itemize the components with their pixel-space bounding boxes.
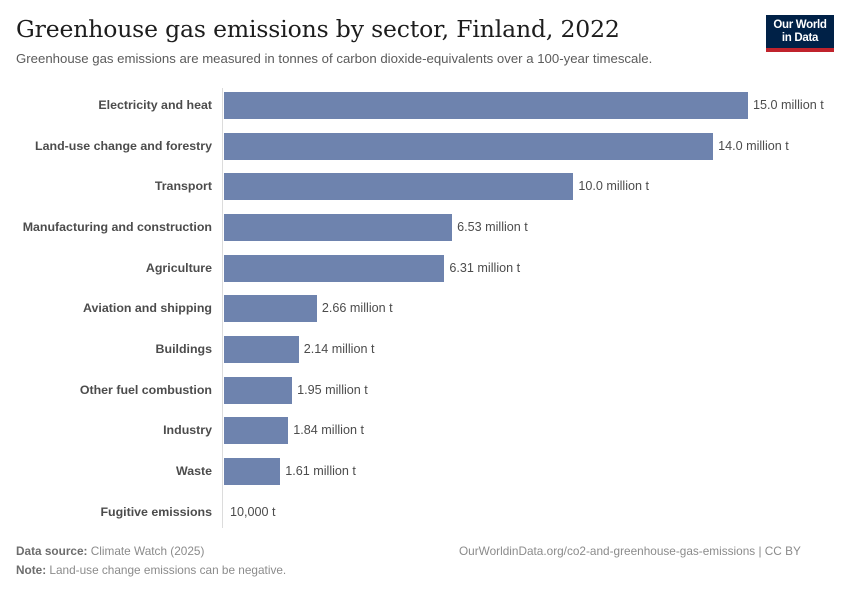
data-source-line: Data source: Climate Watch (2025) xyxy=(16,542,286,561)
bar-row[interactable]: Industry1.84 million t xyxy=(0,417,850,444)
bar-value-label: 2.66 million t xyxy=(322,295,393,322)
footer-left: Data source: Climate Watch (2025) Note: … xyxy=(16,542,286,580)
note-value: Land-use change emissions can be negativ… xyxy=(46,563,286,577)
bar-value-label: 1.84 million t xyxy=(293,417,364,444)
bar-row[interactable]: Other fuel combustion1.95 million t xyxy=(0,377,850,404)
bar-value-label: 1.95 million t xyxy=(297,377,368,404)
bar-category-label: Land-use change and forestry xyxy=(0,133,212,160)
bar-row[interactable]: Aviation and shipping2.66 million t xyxy=(0,295,850,322)
bar-row[interactable]: Transport10.0 million t xyxy=(0,173,850,200)
logo-line-1: Our World xyxy=(771,19,829,32)
bar-value-label: 6.31 million t xyxy=(449,255,520,282)
data-source-value: Climate Watch (2025) xyxy=(87,544,204,558)
bar-category-label: Transport xyxy=(0,173,212,200)
bar[interactable] xyxy=(224,458,280,485)
bar-category-label: Aviation and shipping xyxy=(0,295,212,322)
bar-value-label: 2.14 million t xyxy=(304,336,375,363)
bar[interactable] xyxy=(224,214,452,241)
bar-row[interactable]: Buildings2.14 million t xyxy=(0,336,850,363)
bar-row[interactable]: Waste1.61 million t xyxy=(0,458,850,485)
bar-category-label: Fugitive emissions xyxy=(0,499,212,526)
bar[interactable] xyxy=(224,173,573,200)
data-source-label: Data source: xyxy=(16,544,87,558)
bar-row[interactable]: Agriculture6.31 million t xyxy=(0,255,850,282)
bar-category-label: Waste xyxy=(0,458,212,485)
bar[interactable] xyxy=(224,295,317,322)
bar[interactable] xyxy=(224,417,288,444)
bar-row[interactable]: Fugitive emissions10,000 t xyxy=(0,499,850,526)
page-title: Greenhouse gas emissions by sector, Finl… xyxy=(16,14,746,44)
chart-header: Greenhouse gas emissions by sector, Finl… xyxy=(16,14,746,68)
bar-value-label: 1.61 million t xyxy=(285,458,356,485)
bar-category-label: Buildings xyxy=(0,336,212,363)
bar-value-label: 15.0 million t xyxy=(753,92,824,119)
chart-subtitle: Greenhouse gas emissions are measured in… xyxy=(16,50,746,68)
chart-container: Greenhouse gas emissions by sector, Finl… xyxy=(0,0,850,600)
bar-value-label: 6.53 million t xyxy=(457,214,528,241)
note-line: Note: Land-use change emissions can be n… xyxy=(16,561,286,580)
bar-category-label: Electricity and heat xyxy=(0,92,212,119)
note-label: Note: xyxy=(16,563,46,577)
bar-value-label: 10.0 million t xyxy=(578,173,649,200)
bar-value-label: 14.0 million t xyxy=(718,133,789,160)
bar[interactable] xyxy=(224,377,292,404)
bar[interactable] xyxy=(224,133,713,160)
bar-category-label: Other fuel combustion xyxy=(0,377,212,404)
bar-category-label: Agriculture xyxy=(0,255,212,282)
bar[interactable] xyxy=(224,92,748,119)
bar-row[interactable]: Manufacturing and construction6.53 milli… xyxy=(0,214,850,241)
chart-footer: Data source: Climate Watch (2025) Note: … xyxy=(16,542,834,584)
bar-value-label: 10,000 t xyxy=(230,499,276,526)
our-world-in-data-logo[interactable]: Our World in Data xyxy=(766,15,834,52)
bar-row[interactable]: Electricity and heat15.0 million t xyxy=(0,92,850,119)
plot-area: Electricity and heat15.0 million tLand-u… xyxy=(0,84,850,532)
attribution-link[interactable]: OurWorldinData.org/co2-and-greenhouse-ga… xyxy=(459,542,801,561)
bar[interactable] xyxy=(224,336,299,363)
bar[interactable] xyxy=(224,255,444,282)
bar-category-label: Manufacturing and construction xyxy=(0,214,212,241)
logo-line-2: in Data xyxy=(771,32,829,45)
bar-category-label: Industry xyxy=(0,417,212,444)
bar-row[interactable]: Land-use change and forestry14.0 million… xyxy=(0,133,850,160)
